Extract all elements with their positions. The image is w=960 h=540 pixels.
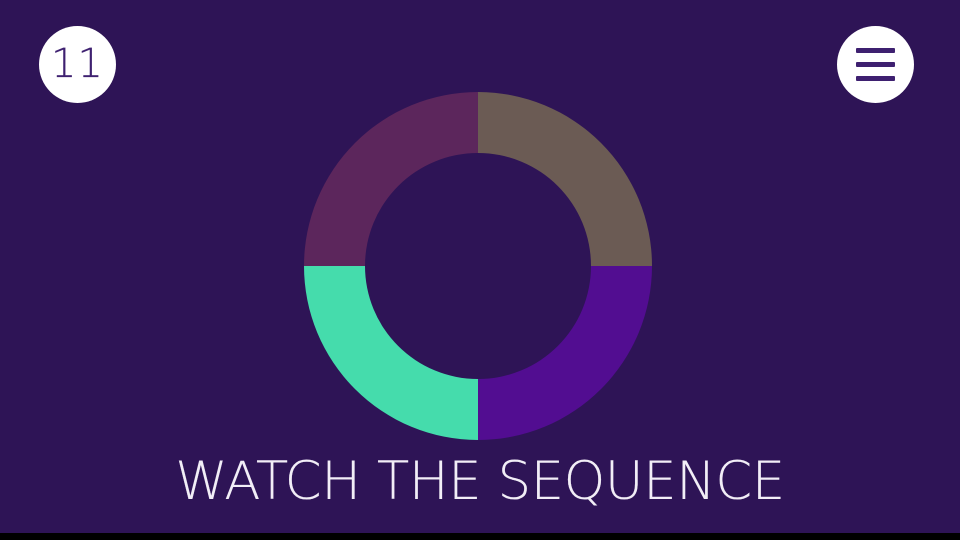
menu-button[interactable] [837,26,914,103]
level-number: 11 [51,44,104,84]
game-screen: 11 WATCH THE SEQUENCE [0,0,960,540]
sequence-donut-ring [304,92,652,440]
prompt-text: WATCH THE SEQUENCE [0,455,960,508]
pad-bottom-right[interactable] [478,266,652,440]
hamburger-bar-1 [856,48,895,53]
pad-bottom-left[interactable] [304,266,478,440]
pad-top-right[interactable] [478,92,652,266]
letterbox-bar-bottom [0,533,960,540]
hamburger-menu-icon [856,48,895,81]
hamburger-bar-2 [856,62,895,67]
hamburger-bar-3 [856,76,895,81]
donut-svg [304,92,652,440]
pad-top-left[interactable] [304,92,478,266]
level-badge-button[interactable]: 11 [39,26,116,103]
